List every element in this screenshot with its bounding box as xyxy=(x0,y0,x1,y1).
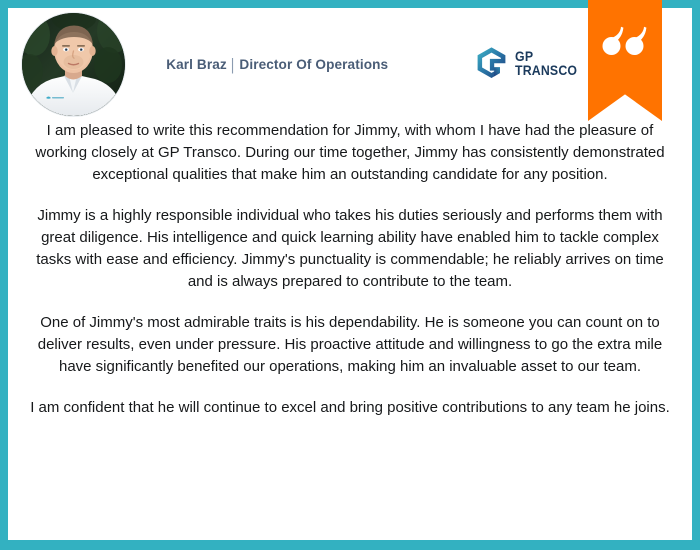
avatar xyxy=(22,13,125,116)
quote-ribbon xyxy=(588,0,662,121)
person-identity: Karl Braz|Director Of Operations xyxy=(125,57,475,72)
brand-line-transco: TRANSCO xyxy=(515,64,577,78)
gp-transco-wordmark: GP TRANSCO xyxy=(515,50,586,77)
testimonial-paragraph: I am confident that he will continue to … xyxy=(24,397,676,419)
name-role-divider: | xyxy=(231,55,235,74)
quotation-mark-icon xyxy=(588,26,662,56)
testimonial-card: Karl Braz|Director Of Operations xyxy=(0,0,700,550)
person-line: Karl Braz|Director Of Operations xyxy=(166,57,388,72)
testimonial-body: I am pleased to write this recommendatio… xyxy=(8,120,692,420)
testimonial-header: Karl Braz|Director Of Operations xyxy=(8,8,692,120)
testimonial-card-inner: Karl Braz|Director Of Operations xyxy=(8,8,692,540)
testimonial-paragraph: I am pleased to write this recommendatio… xyxy=(24,120,676,186)
person-role: Director Of Operations xyxy=(239,57,388,72)
testimonial-paragraph: One of Jimmy's most admirable traits is … xyxy=(24,312,676,378)
gp-transco-logo: GP TRANSCO xyxy=(475,46,586,83)
testimonial-paragraph: Jimmy is a highly responsible individual… xyxy=(24,205,676,293)
gp-transco-hexagon-g-logo-icon xyxy=(475,46,508,83)
person-name: Karl Braz xyxy=(166,57,227,72)
